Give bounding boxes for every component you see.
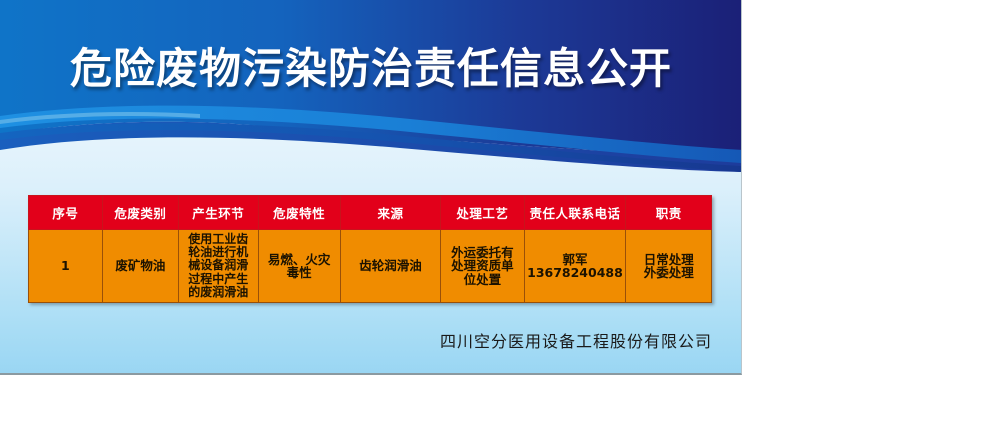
hazardous-waste-table: 序号 危废类别 产生环节 危废特性 来源 处理工艺 责任人联系电话 职责 1 废… bbox=[28, 195, 712, 303]
col-header-index: 序号 bbox=[29, 196, 103, 230]
cell-contact: 郭军13678240488 bbox=[524, 230, 626, 303]
cell-source: 齿轮润滑油 bbox=[340, 230, 441, 303]
col-header-contact: 责任人联系电话 bbox=[524, 196, 626, 230]
table-header: 序号 危废类别 产生环节 危废特性 来源 处理工艺 责任人联系电话 职责 bbox=[29, 196, 712, 230]
table-header-row: 序号 危废类别 产生环节 危废特性 来源 处理工艺 责任人联系电话 职责 bbox=[29, 196, 712, 230]
table-row: 1 废矿物油 使用工业齿轮油进行机械设备润滑过程中产生的废润滑油 易燃、火灾毒性… bbox=[29, 230, 712, 303]
table-body: 1 废矿物油 使用工业齿轮油进行机械设备润滑过程中产生的废润滑油 易燃、火灾毒性… bbox=[29, 230, 712, 303]
cell-duty: 日常处理外委处理 bbox=[626, 230, 712, 303]
col-header-category: 危废类别 bbox=[102, 196, 178, 230]
company-name: 四川空分医用设备工程股份有限公司 bbox=[0, 328, 712, 352]
col-header-process: 处理工艺 bbox=[441, 196, 524, 230]
col-header-property: 危废特性 bbox=[258, 196, 340, 230]
hazardous-waste-poster: 危险废物污染防治责任信息公开 序号 危废类别 产生环节 危废特性 来源 处理工艺… bbox=[0, 0, 742, 375]
cell-property: 易燃、火灾毒性 bbox=[258, 230, 340, 303]
poster-banner: 危险废物污染防治责任信息公开 bbox=[0, 0, 742, 172]
col-header-duty: 职责 bbox=[626, 196, 712, 230]
page-title: 危险废物污染防治责任信息公开 bbox=[0, 0, 742, 130]
col-header-source: 来源 bbox=[340, 196, 441, 230]
cell-category: 废矿物油 bbox=[102, 230, 178, 303]
col-header-stage: 产生环节 bbox=[178, 196, 258, 230]
cell-index: 1 bbox=[29, 230, 103, 303]
cell-stage: 使用工业齿轮油进行机械设备润滑过程中产生的废润滑油 bbox=[178, 230, 258, 303]
cell-process: 外运委托有处理资质单位处置 bbox=[441, 230, 524, 303]
